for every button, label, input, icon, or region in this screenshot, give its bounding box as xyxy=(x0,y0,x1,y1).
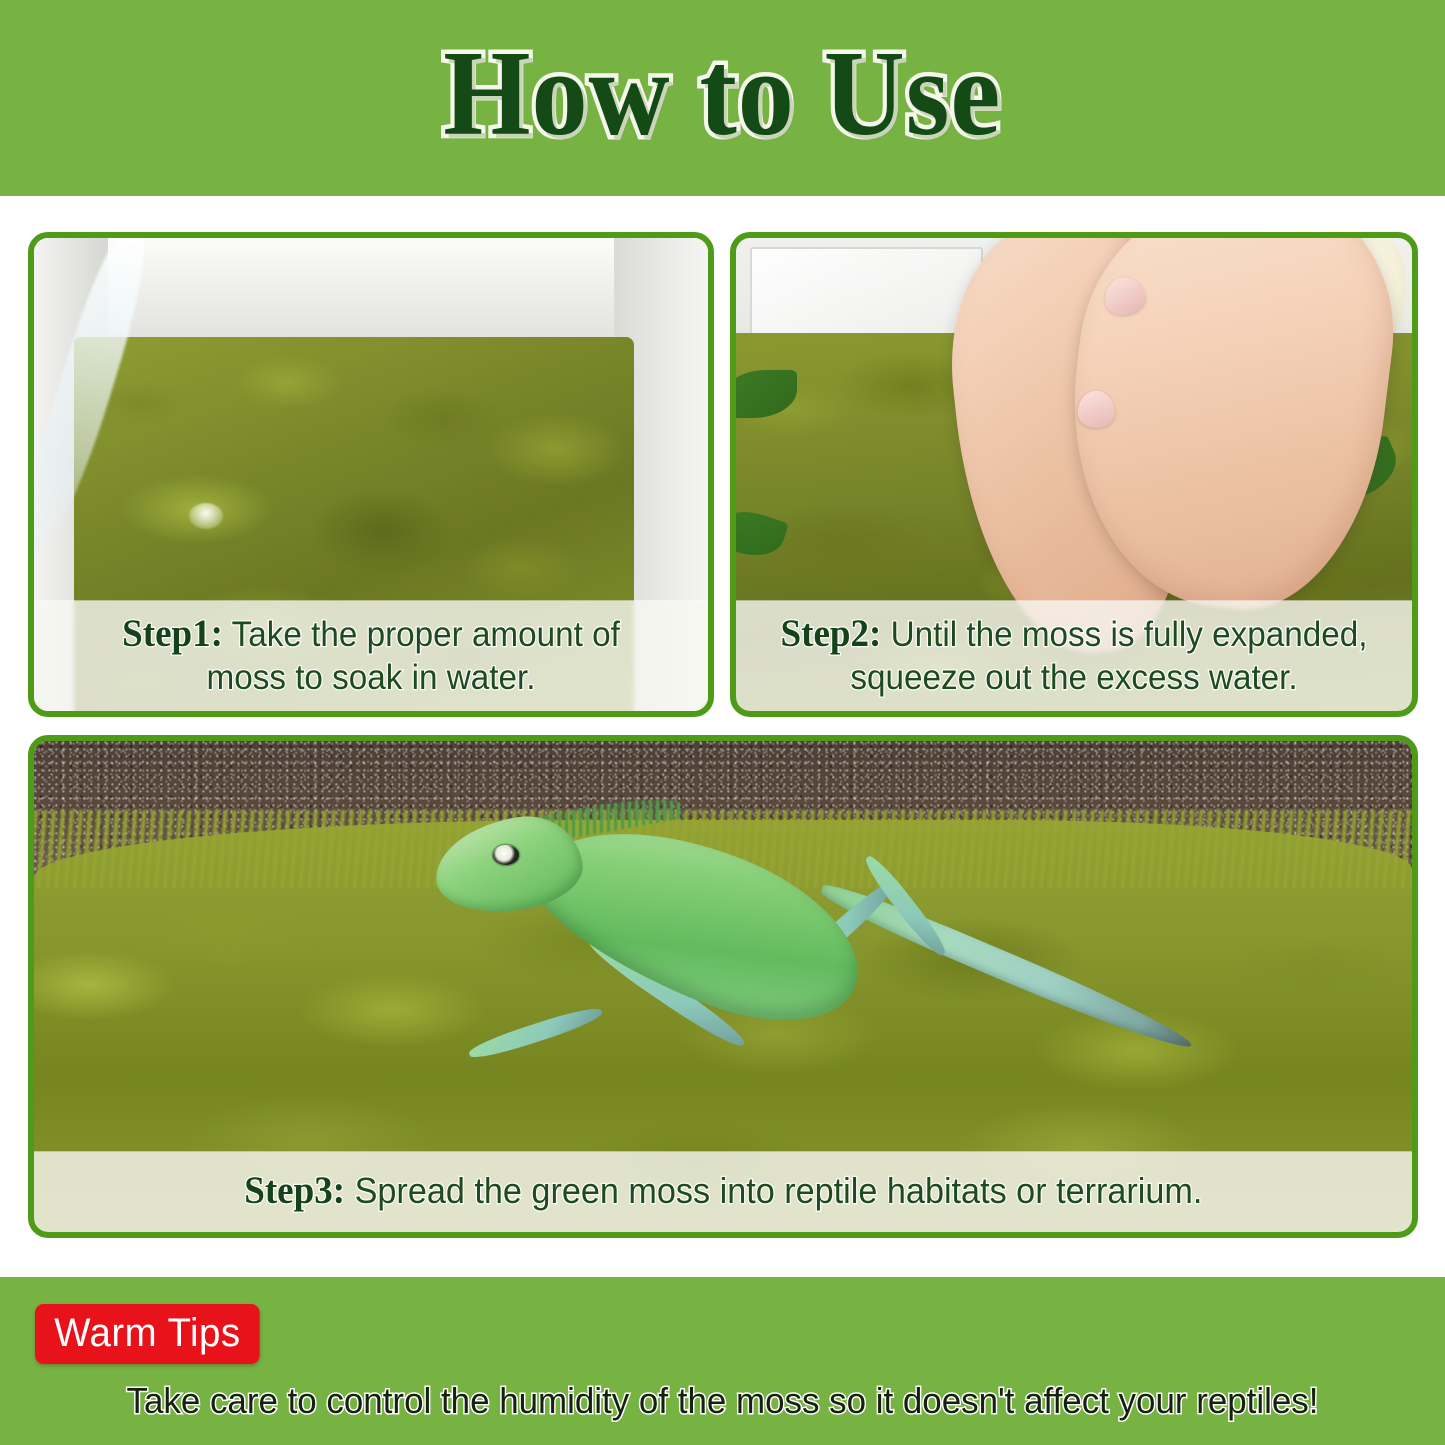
step-3-panel: Step3: Spread the green moss into reptil… xyxy=(28,735,1418,1238)
step-1-text-line-1: Take the proper amount of xyxy=(232,615,620,654)
step-1-caption-text: Step1: Take the proper amount of moss to… xyxy=(66,611,676,698)
step-3-caption: Step3: Spread the green moss into reptil… xyxy=(34,1152,1412,1232)
water-splash xyxy=(189,503,223,529)
step-1-label: Step1: xyxy=(122,612,223,655)
lizard-hind-foot xyxy=(467,1003,605,1063)
step-2-text-line-1: Until the moss is fully expanded, xyxy=(891,615,1368,654)
fingernail xyxy=(1101,274,1148,318)
step-2-caption-text: Step2: Until the moss is fully expanded,… xyxy=(768,611,1380,698)
footer-banner: Warm Tips Take care to control the humid… xyxy=(0,1277,1445,1445)
step-2-caption: Step2: Until the moss is fully expanded,… xyxy=(736,601,1412,711)
step-1-caption: Step1: Take the proper amount of moss to… xyxy=(34,601,708,711)
step-3-text: Spread the green moss into reptile habit… xyxy=(354,1170,1202,1211)
step-3-label: Step3: xyxy=(244,1169,345,1212)
steps-grid: Step1: Take the proper amount of moss to… xyxy=(0,196,1445,1241)
fingernail xyxy=(1078,391,1116,429)
step-3-caption-text: Step3: Spread the green moss into reptil… xyxy=(244,1168,1202,1214)
step-2-label: Step2: xyxy=(781,612,882,655)
step-1-panel: Step1: Take the proper amount of moss to… xyxy=(28,232,714,717)
page-title: How to Use xyxy=(444,33,1002,163)
step-1-text-line-2: moss to soak in water. xyxy=(207,658,536,697)
step-2-text-line-2: squeeze out the excess water. xyxy=(850,658,1297,697)
step-2-panel: Step2: Until the moss is fully expanded,… xyxy=(730,232,1418,717)
lizard-image xyxy=(420,805,1192,1159)
warm-tips-badge: Warm Tips xyxy=(35,1304,260,1364)
warm-tips-text: Take care to control the humidity of the… xyxy=(22,1381,1424,1421)
header-banner: How to Use xyxy=(0,0,1445,196)
